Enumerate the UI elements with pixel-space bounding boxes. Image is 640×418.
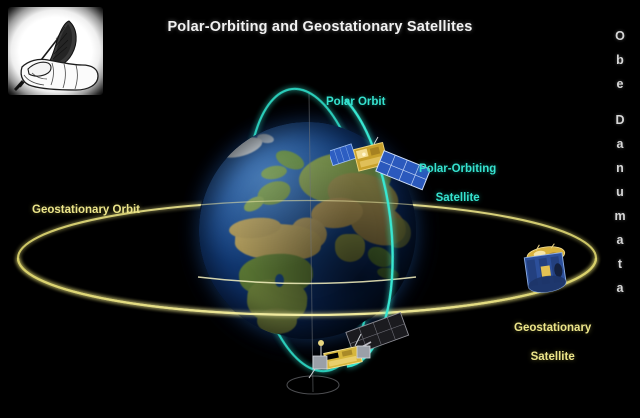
second-polar-satellite-icon (305, 312, 411, 384)
polar-orbiting-satellite (330, 136, 430, 198)
watermark-letter: b (608, 48, 632, 72)
watermark-letter: m (608, 204, 632, 228)
vertical-watermark: Obe Danumata (608, 24, 632, 300)
label-geostationary-satellite-line1: Geostationary (514, 321, 591, 335)
watermark-letter: D (608, 108, 632, 132)
label-polar-orbiting-satellite-line2: Satellite (419, 191, 496, 205)
label-polar-orbiting-satellite: Polar-Orbiting Satellite (419, 148, 496, 220)
watermark-letter: t (608, 252, 632, 276)
watermark-letter: a (608, 132, 632, 156)
second-polar-satellite (305, 312, 411, 384)
diagram-canvas: Polar-Orbiting and Geostationary Satelli… (0, 0, 640, 418)
watermark-letter: u (608, 180, 632, 204)
label-geostationary-satellite: Geostationary Satellite (514, 307, 591, 379)
watermark-letter: a (608, 276, 632, 300)
watermark-letter: O (608, 24, 632, 48)
watermark-letter: n (608, 156, 632, 180)
label-geostationary-orbit: Geostationary Orbit (32, 203, 140, 217)
polar-satellite-icon (330, 136, 430, 198)
watermark-word-obe: Obe (608, 24, 632, 96)
watermark-letter: a (608, 228, 632, 252)
watermark-gap (608, 96, 632, 108)
equator-highlight (198, 201, 416, 284)
geostationary-satellite-icon (515, 240, 577, 302)
page-title: Polar-Orbiting and Geostationary Satelli… (0, 19, 640, 35)
watermark-letter: e (608, 72, 632, 96)
label-polar-orbiting-satellite-line1: Polar-Orbiting (419, 162, 496, 176)
geostationary-orbit-near (18, 258, 596, 315)
geostationary-satellite (515, 240, 577, 302)
label-geostationary-satellite-line2: Satellite (514, 350, 591, 364)
label-polar-orbit: Polar Orbit (326, 95, 385, 109)
watermark-word-danumata: Danumata (608, 108, 632, 300)
